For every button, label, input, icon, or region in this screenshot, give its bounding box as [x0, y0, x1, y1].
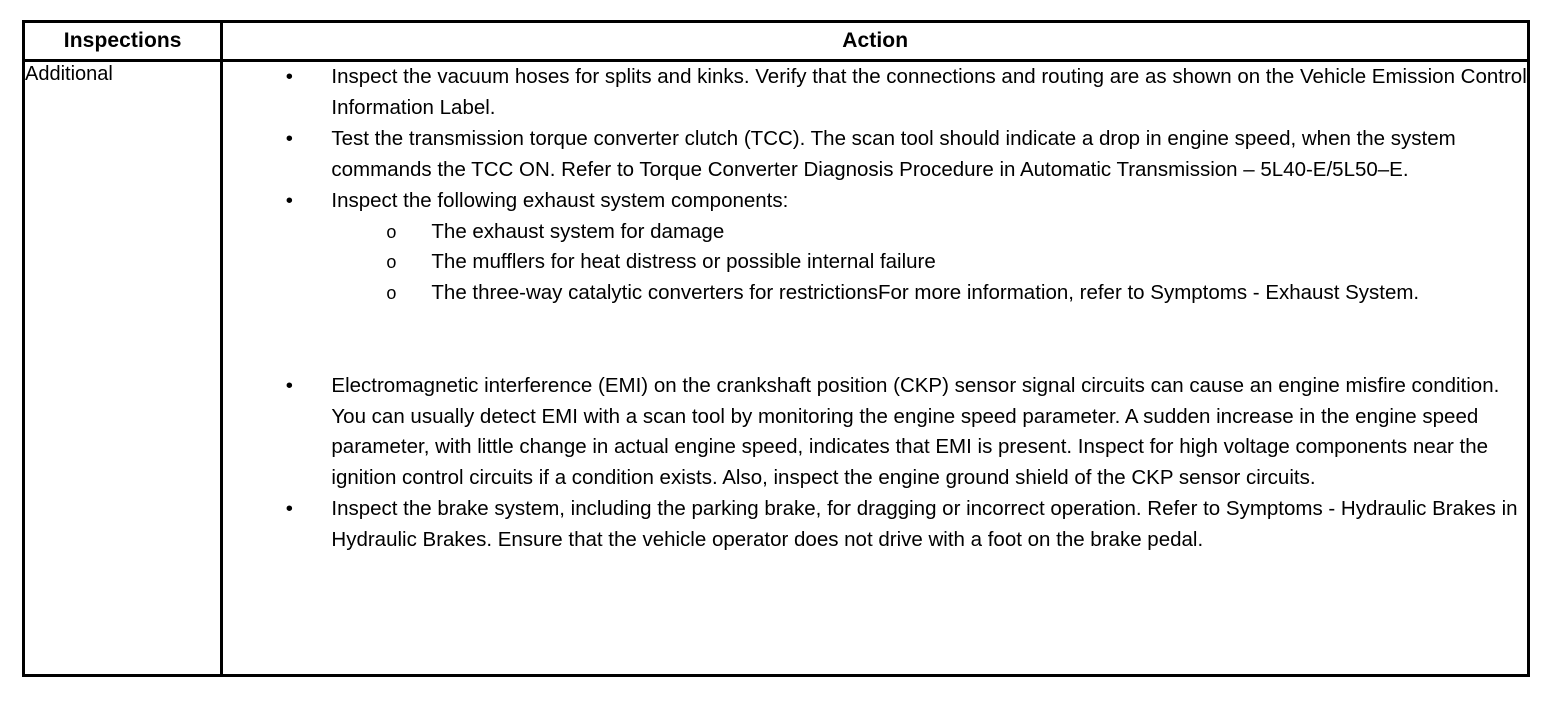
- list-item-text: Electromagnetic interference (EMI) on th…: [331, 371, 1527, 493]
- list-item: • Inspect the following exhaust system c…: [223, 186, 1527, 308]
- cell-action-content: • Inspect the vacuum hoses for splits an…: [222, 61, 1529, 676]
- action-bullet-list: • Inspect the vacuum hoses for splits an…: [223, 62, 1527, 555]
- bullet-circle-icon: o: [384, 217, 398, 248]
- list-item: o The exhaust system for damage: [331, 217, 1527, 248]
- list-item: • Inspect the brake system, including th…: [223, 494, 1527, 555]
- bullet-dot-icon: •: [283, 124, 295, 155]
- list-item-text: Inspect the vacuum hoses for splits and …: [331, 62, 1527, 123]
- document-page: Inspections Action Additional • Inspect …: [0, 0, 1568, 710]
- list-item-text: Test the transmission torque converter c…: [331, 124, 1527, 185]
- list-item: o The mufflers for heat distress or poss…: [331, 247, 1527, 278]
- list-item: • Inspect the vacuum hoses for splits an…: [223, 62, 1527, 123]
- column-header-inspections: Inspections: [24, 22, 222, 61]
- list-item: o The three-way catalytic converters for…: [331, 278, 1527, 309]
- bullet-dot-icon: •: [283, 494, 295, 525]
- list-item-text: Inspect the brake system, including the …: [331, 494, 1527, 555]
- cell-inspection-label: Additional: [24, 61, 222, 676]
- bullet-dot-icon: •: [283, 186, 295, 217]
- list-item-text: The mufflers for heat distress or possib…: [431, 247, 1527, 278]
- exhaust-components-sublist: o The exhaust system for damage o The mu…: [331, 217, 1527, 309]
- list-spacer: [223, 309, 1527, 370]
- list-item-text: Inspect the following exhaust system com…: [331, 186, 1527, 217]
- bullet-dot-icon: •: [283, 62, 295, 93]
- list-item-text: The three-way catalytic converters for r…: [431, 278, 1527, 309]
- table-row: Additional • Inspect the vacuum hoses fo…: [24, 61, 1529, 676]
- bullet-dot-icon: •: [283, 371, 295, 402]
- list-item: • Test the transmission torque converter…: [223, 124, 1527, 185]
- bullet-circle-icon: o: [384, 278, 398, 309]
- inspections-table: Inspections Action Additional • Inspect …: [22, 20, 1530, 677]
- list-item-text: The exhaust system for damage: [431, 217, 1527, 248]
- column-header-action: Action: [222, 22, 1529, 61]
- table-header-row: Inspections Action: [24, 22, 1529, 61]
- list-item: • Electromagnetic interference (EMI) on …: [223, 371, 1527, 493]
- bullet-circle-icon: o: [384, 247, 398, 278]
